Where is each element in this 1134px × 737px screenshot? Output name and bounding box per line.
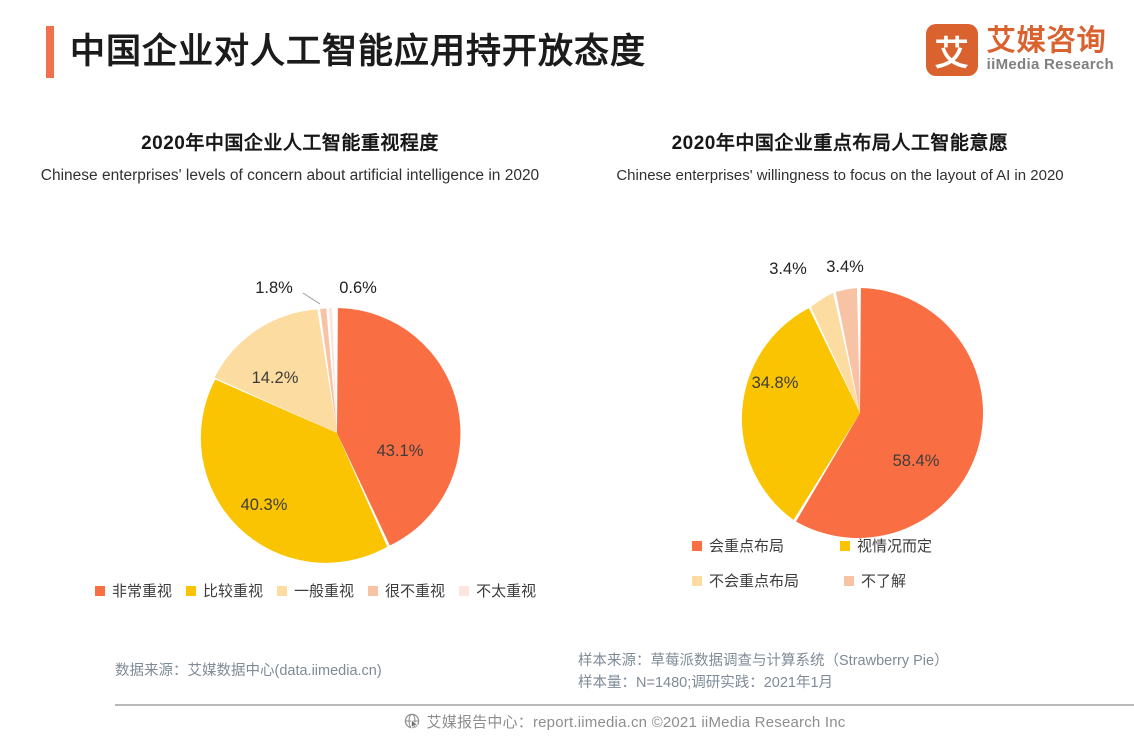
legend-swatch-icon xyxy=(186,586,196,596)
right-slice-value-0: 58.4% xyxy=(893,452,940,470)
legend-swatch-icon xyxy=(692,541,702,551)
legend-label: 不了解 xyxy=(861,570,906,591)
legend-item-0[interactable]: 会重点布局 xyxy=(692,535,840,556)
logo-text: 艾媒咨询 iiMedia Research xyxy=(987,26,1114,74)
left-pie-svg: 43.1% 40.3% 14.2% 1.8% 0.6% xyxy=(192,288,482,578)
left-slice-value-1: 40.3% xyxy=(241,496,288,514)
right-chart-subtitle: Chinese enterprises' willingness to focu… xyxy=(572,162,1108,190)
title-accent-bar xyxy=(46,26,54,78)
legend-item-0[interactable]: 非常重视 xyxy=(95,580,172,601)
left-slice-value-3: 1.8% xyxy=(255,279,293,297)
legend-item-3[interactable]: 很不重视 xyxy=(368,580,445,601)
legend-item-1[interactable]: 比较重视 xyxy=(186,580,263,601)
left-chart-subtitle: Chinese enterprises' levels of concern a… xyxy=(40,162,540,190)
right-slice-value-1: 34.8% xyxy=(752,374,799,392)
left-slice-value-4: 0.6% xyxy=(339,279,377,297)
left-leader-line xyxy=(303,293,320,304)
legend-item-1[interactable]: 视情况而定 xyxy=(840,535,988,556)
page-title: 中国企业对人工智能应用持开放态度 xyxy=(70,26,646,78)
legend-item-2[interactable]: 一般重视 xyxy=(277,580,354,601)
footer: 艾媒报告中心：report.iimedia.cn ©2021 iiMedia R… xyxy=(115,704,1134,737)
right-chart-title: 2020年中国企业重点布局人工智能意愿 xyxy=(570,128,1110,155)
legend-item-3[interactable]: 不了解 xyxy=(844,570,992,591)
header: 中国企业对人工智能应用持开放态度 艾 艾媒咨询 iiMedia Research xyxy=(0,0,1134,100)
legend-swatch-icon xyxy=(95,586,105,596)
right-slice-value-3: 3.4% xyxy=(826,258,864,276)
right-pie-chart: 58.4% 34.8% 3.4% 3.4% xyxy=(715,268,1005,558)
legend-label: 非常重视 xyxy=(112,580,172,601)
legend-swatch-icon xyxy=(459,586,469,596)
legend-label: 不太重视 xyxy=(476,580,536,601)
legend-swatch-icon xyxy=(840,541,850,551)
left-chart-legend: 非常重视 比较重视 一般重视 很不重视 不太重视 xyxy=(95,580,555,601)
legend-swatch-icon xyxy=(277,586,287,596)
legend-label: 不会重点布局 xyxy=(709,570,799,591)
legend-item-2[interactable]: 不会重点布局 xyxy=(692,570,844,591)
legend-item-4[interactable]: 不太重视 xyxy=(459,580,536,601)
footer-text: 艾媒报告中心：report.iimedia.cn ©2021 iiMedia R… xyxy=(427,711,846,732)
footer-content: 艾媒报告中心：report.iimedia.cn ©2021 iiMedia R… xyxy=(115,706,1134,737)
legend-swatch-icon xyxy=(368,586,378,596)
left-chart-panel: 2020年中国企业人工智能重视程度 Chinese enterprises' l… xyxy=(20,110,560,670)
left-slice-value-2: 14.2% xyxy=(252,369,299,387)
infographic-page: 中国企业对人工智能应用持开放态度 艾 艾媒咨询 iiMedia Research… xyxy=(0,0,1134,737)
logo-mark-icon: 艾 xyxy=(926,24,978,76)
legend-swatch-icon xyxy=(844,576,854,586)
logo-name-cn: 艾媒咨询 xyxy=(987,26,1114,56)
left-chart-title: 2020年中国企业人工智能重视程度 xyxy=(20,128,560,155)
left-slice-value-0: 43.1% xyxy=(377,442,424,460)
brand-logo: 艾 艾媒咨询 iiMedia Research xyxy=(926,22,1114,78)
left-source-note: 数据来源：艾媒数据中心(data.iimedia.cn) xyxy=(115,660,382,682)
globe-cursor-icon xyxy=(404,713,421,730)
right-chart-legend: 会重点布局 视情况而定 不会重点布局 不了解 xyxy=(692,535,992,591)
right-pie-svg: 58.4% 34.8% 3.4% 3.4% xyxy=(715,268,1005,558)
legend-swatch-icon xyxy=(692,576,702,586)
legend-label: 很不重视 xyxy=(385,580,445,601)
right-source-note-line1: 样本来源：草莓派数据调查与计算系统（Strawberry Pie） xyxy=(578,650,949,672)
logo-name-en: iiMedia Research xyxy=(987,56,1114,74)
legend-label: 视情况而定 xyxy=(857,535,932,556)
right-chart-panel: 2020年中国企业重点布局人工智能意愿 Chinese enterprises'… xyxy=(570,110,1110,670)
left-pie-chart: 43.1% 40.3% 14.2% 1.8% 0.6% xyxy=(192,288,482,578)
legend-label: 会重点布局 xyxy=(709,535,784,556)
legend-label: 比较重视 xyxy=(203,580,263,601)
right-source-note: 样本来源：草莓派数据调查与计算系统（Strawberry Pie） 样本量：N=… xyxy=(578,650,949,694)
right-slice-value-2: 3.4% xyxy=(769,260,807,278)
right-source-note-line2: 样本量：N=1480;调研实践：2021年1月 xyxy=(578,672,949,694)
legend-label: 一般重视 xyxy=(294,580,354,601)
